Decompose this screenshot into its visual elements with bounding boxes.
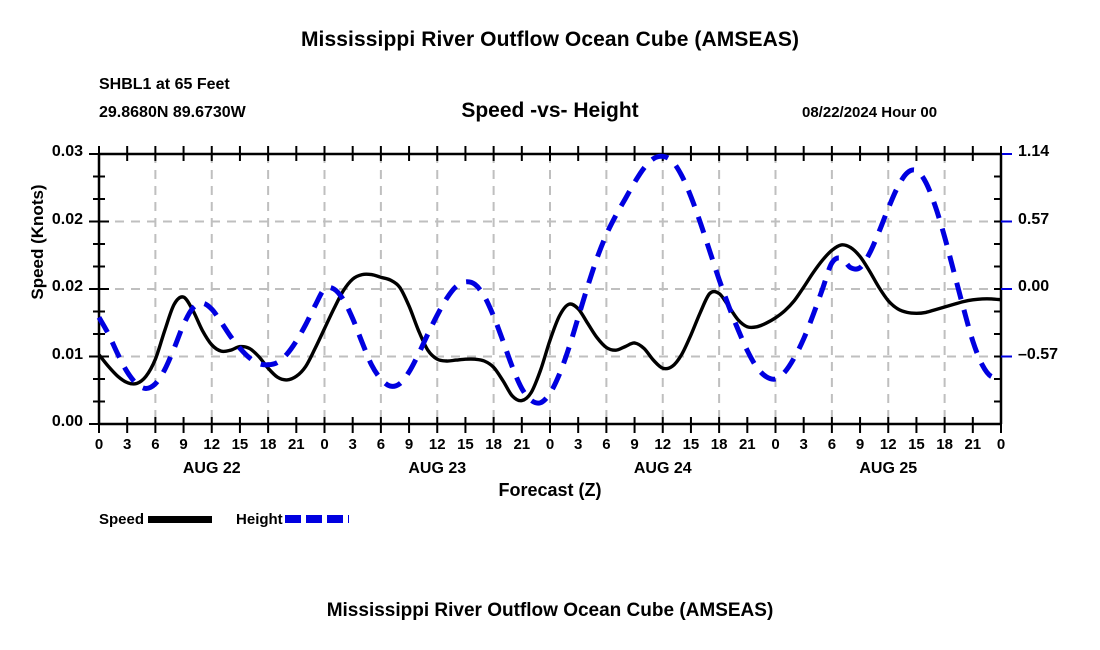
x-axis-tick-label: 18 [256, 436, 280, 453]
x-axis-tick-label: 12 [425, 436, 449, 453]
legend-label-height: Height [236, 511, 283, 528]
legend-swatch-height [285, 515, 349, 523]
x-axis-tick-label: 0 [764, 436, 788, 453]
y-axis-left-tick-label: 0.00 [23, 413, 83, 431]
x-axis-tick-label: 18 [707, 436, 731, 453]
x-axis-tick-label: 9 [397, 436, 421, 453]
x-axis-tick-label: 6 [594, 436, 618, 453]
x-axis-tick-label: 9 [848, 436, 872, 453]
x-axis-tick-label: 21 [735, 436, 759, 453]
x-axis-tick-label: 21 [510, 436, 534, 453]
x-axis-tick-label: 12 [876, 436, 900, 453]
x-axis-tick-label: 21 [961, 436, 985, 453]
chart-canvas [0, 0, 1100, 650]
x-axis-tick-label: 6 [143, 436, 167, 453]
footer-title: Mississippi River Outflow Ocean Cube (AM… [0, 600, 1100, 622]
x-axis-tick-label: 15 [453, 436, 477, 453]
x-axis-tick-label: 12 [200, 436, 224, 453]
x-axis-tick-label: 3 [341, 436, 365, 453]
x-axis-day-label: AUG 25 [828, 460, 948, 478]
x-axis-day-label: AUG 24 [603, 460, 723, 478]
x-axis-tick-label: 0 [313, 436, 337, 453]
legend-swatch-speed [148, 516, 212, 523]
x-axis-tick-label: 9 [172, 436, 196, 453]
x-axis-tick-label: 15 [228, 436, 252, 453]
x-axis-tick-label: 18 [482, 436, 506, 453]
x-axis-tick-label: 0 [989, 436, 1013, 453]
x-axis-tick-label: 15 [679, 436, 703, 453]
x-axis-tick-label: 3 [566, 436, 590, 453]
legend-label-speed: Speed [99, 511, 144, 528]
x-axis-tick-label: 6 [369, 436, 393, 453]
x-axis-day-label: AUG 22 [152, 460, 272, 478]
y-axis-left-tick-label: 0.01 [23, 346, 83, 364]
x-axis-tick-label: 3 [115, 436, 139, 453]
x-axis-tick-label: 3 [792, 436, 816, 453]
x-axis-day-label: AUG 23 [377, 460, 497, 478]
x-axis-tick-label: 0 [87, 436, 111, 453]
x-axis-tick-label: 6 [820, 436, 844, 453]
y-axis-right-tick-label: 1.14 [1018, 143, 1078, 161]
y-axis-right-tick-label: 0.00 [1018, 278, 1078, 296]
y-axis-right-tick-label: –0.57 [1018, 346, 1078, 364]
y-axis-left-tick-label: 0.02 [23, 211, 83, 229]
y-axis-right-tick-label: 0.57 [1018, 211, 1078, 229]
y-axis-left-tick-label: 0.02 [23, 278, 83, 296]
x-axis-tick-label: 21 [284, 436, 308, 453]
x-axis-tick-label: 15 [904, 436, 928, 453]
y-axis-left-tick-label: 0.03 [23, 143, 83, 161]
x-axis-tick-label: 12 [651, 436, 675, 453]
x-axis-tick-label: 18 [933, 436, 957, 453]
x-axis-tick-label: 9 [623, 436, 647, 453]
plot-area [0, 0, 1100, 650]
chart-legend: Speed Height [99, 508, 349, 530]
x-axis-tick-label: 0 [538, 436, 562, 453]
